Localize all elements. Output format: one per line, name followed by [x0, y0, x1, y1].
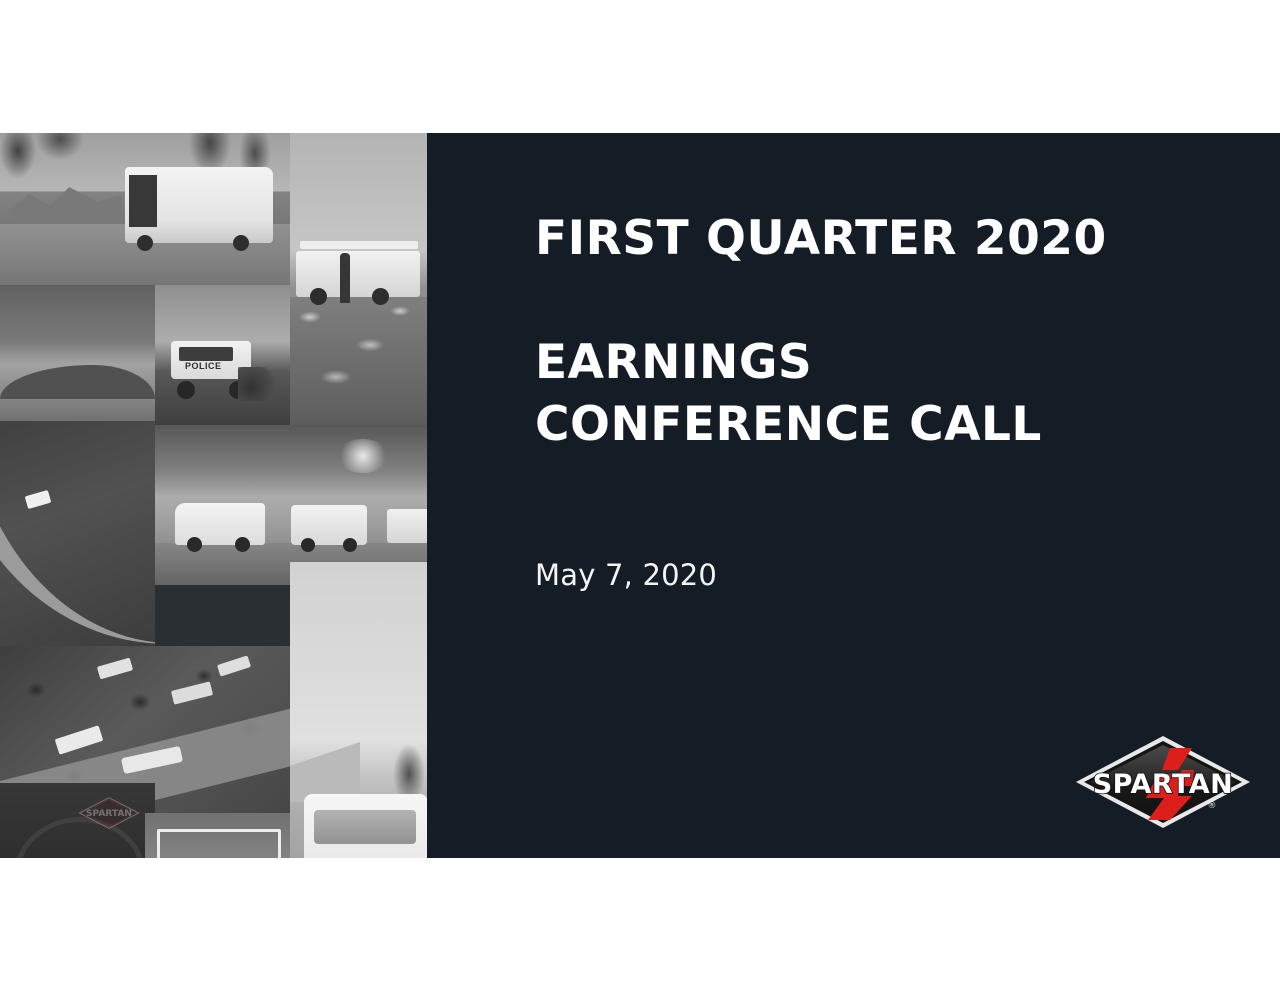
cargo-van-2: [291, 505, 367, 545]
title-panel: FIRST QUARTER 2020 EARNINGS CONFERENCE C…: [427, 133, 1280, 858]
collage-tile-field-horizon: [0, 285, 155, 421]
headline-line-3: CONFERENCE CALL: [535, 394, 1225, 456]
hill-shape: [0, 365, 155, 399]
windshield: [314, 810, 416, 844]
collage-tile-step-van-front: [290, 562, 427, 858]
step-van-shape: [125, 167, 273, 243]
motorcycle-shape: [238, 367, 282, 401]
sun-glare: [337, 439, 389, 473]
collage-tile-van-lineup: [155, 425, 427, 585]
collage-tile-house-step-van: [0, 133, 290, 285]
collage-watermark-logo: SPARTAN: [78, 796, 140, 830]
svg-text:SPARTAN: SPARTAN: [86, 809, 132, 819]
police-decal: POLICE: [185, 361, 222, 371]
slide-canvas: POLICE: [0, 133, 1280, 858]
headline-line-2: EARNINGS: [535, 332, 1225, 394]
spartan-logo: SPARTAN ®: [1074, 734, 1252, 830]
worker-figure: [340, 253, 350, 303]
box-truck-3: [387, 509, 427, 543]
slide-headline: FIRST QUARTER 2020 EARNINGS CONFERENCE C…: [535, 208, 1225, 456]
conifer-trees: [95, 449, 149, 639]
collage-tile-police-vehicle: POLICE: [155, 285, 290, 425]
building-shape: [290, 742, 360, 802]
presentation-date: May 7, 2020: [535, 558, 717, 592]
svg-text:®: ®: [1208, 801, 1217, 811]
police-wheels: [177, 381, 195, 399]
upper-ladder-rack: [157, 829, 281, 858]
collage-tile-curved-highway: [0, 421, 155, 646]
ladder-rack: [300, 241, 418, 249]
svg-text:SPARTAN: SPARTAN: [1093, 769, 1234, 800]
rocky-ground: [290, 297, 427, 425]
collage-tile-utility-truck-rocks: [290, 133, 427, 425]
collage-tile-service-body-workers: [145, 813, 290, 858]
photo-collage: POLICE: [0, 133, 427, 858]
service-body-truck: [296, 251, 420, 297]
cargo-van-1: [175, 503, 265, 545]
headline-line-1: FIRST QUARTER 2020: [535, 211, 1107, 266]
